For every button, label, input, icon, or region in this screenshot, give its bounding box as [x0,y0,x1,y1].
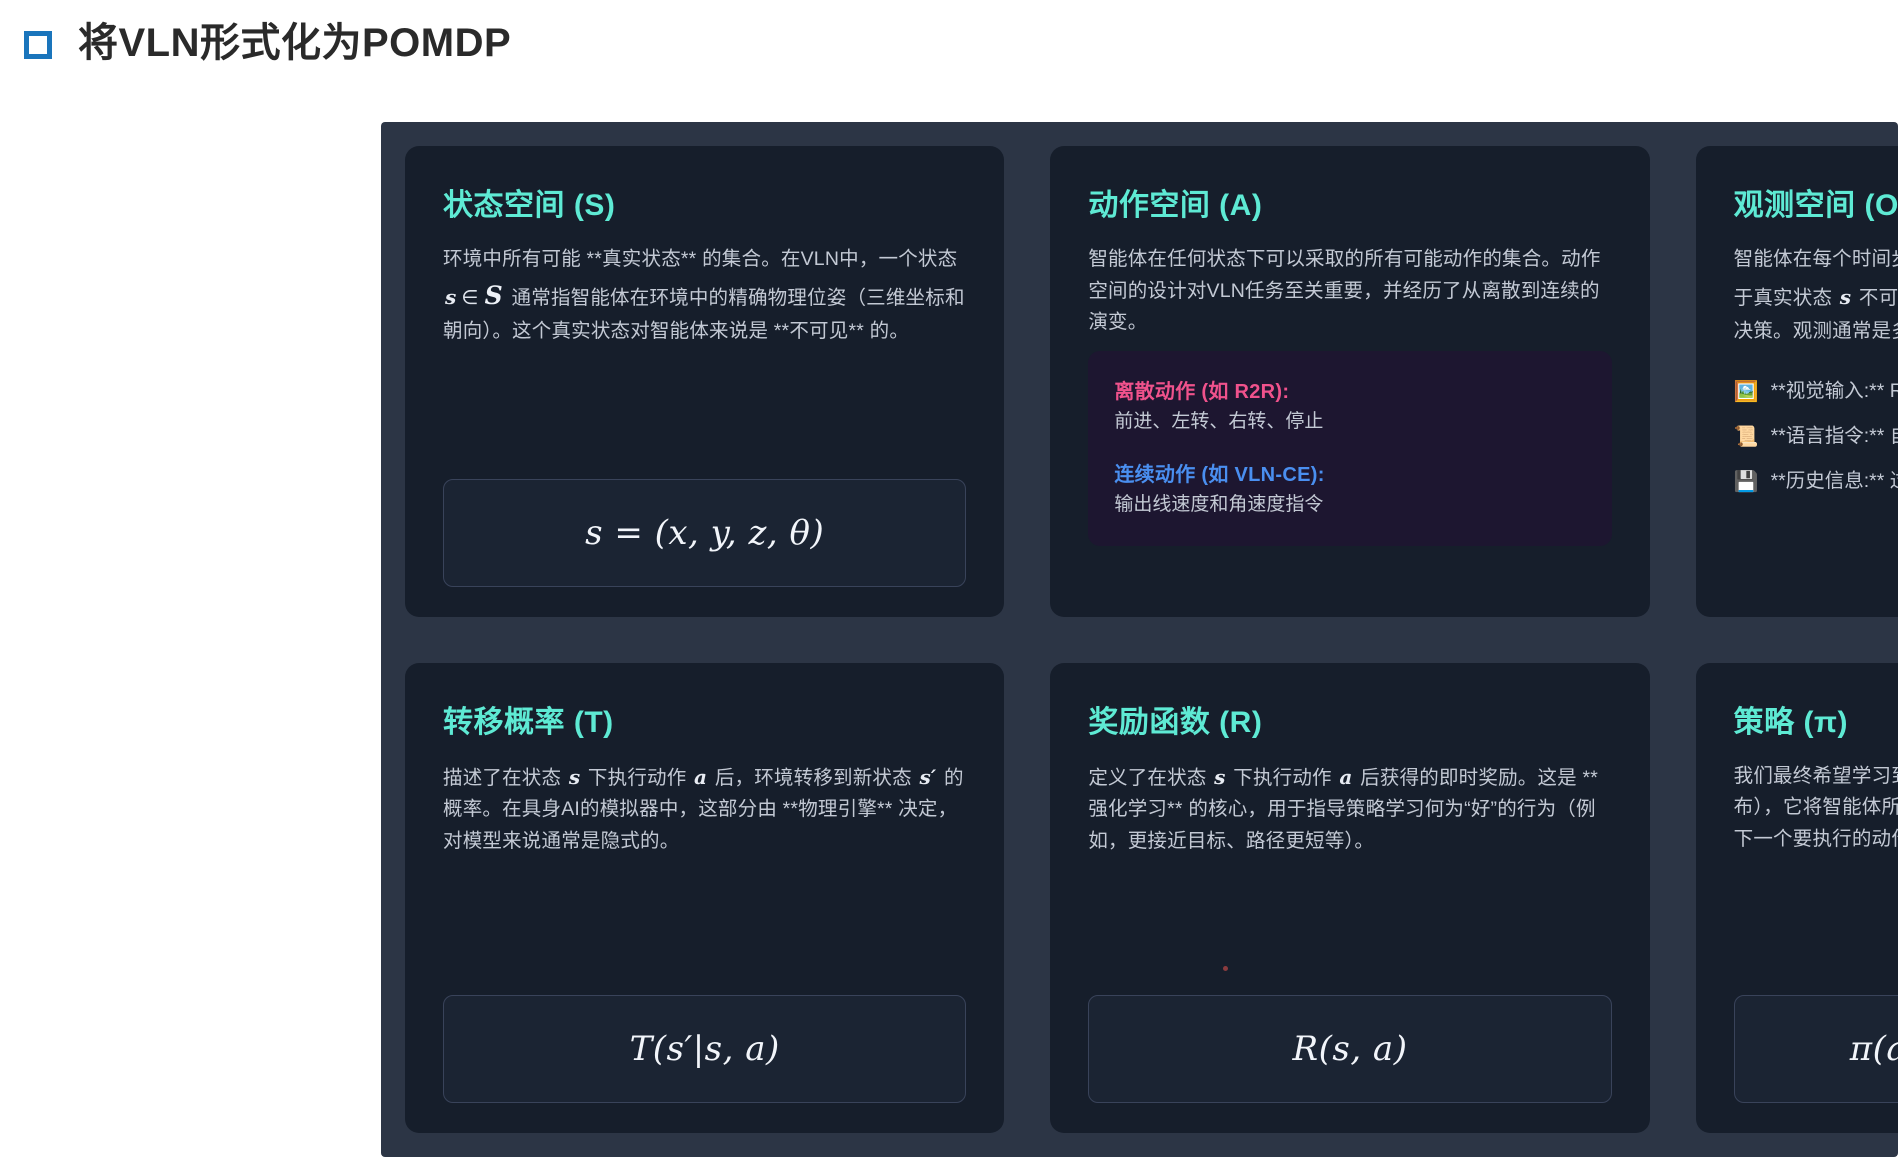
list-item-label: **视觉输入:** RGB图像、深度图 [1771,376,1898,406]
math-var-a: a [1337,765,1354,789]
page-title: 将VLN形式化为POMDP [78,21,511,65]
list-item: 📜 **语言指令:** 自然语言文本 [1734,421,1898,451]
observation-modality-list: 🖼️ **视觉输入:** RGB图像、深度图 📜 **语言指令:** 自然语言文… [1734,376,1898,512]
formula-box: R(s, a) [1088,995,1611,1103]
spacer [443,348,966,471]
discrete-action-text: 前进、左转、右转、停止 [1114,408,1585,437]
formula-transition: T(s′|s, a) [630,1029,780,1069]
pomdp-panel: 状态空间 (S) 环境中所有可能 **真实状态** 的集合。在VLN中，一个状态… [381,122,1898,1157]
card-body: 环境中所有可能 **真实状态** 的集合。在VLN中，一个状态 s∈S 通常指智… [443,244,966,348]
action-types-box: 离散动作 (如 R2R): 前进、左转、右转、停止 连续动作 (如 VLN-CE… [1088,351,1611,546]
formula-box: s = (x, y, z, θ) [443,479,966,587]
card-title: 奖励函数 (R) [1088,697,1611,741]
math-var-s: s [567,765,582,789]
body-text-2: 不可知，智能体只能依赖观测 [1853,287,1898,309]
card-body: 我们最终希望学习到的目标。策略是一个函数（或概率分布），它将智能体所能获取的所有… [1734,761,1898,856]
card-title: 转移概率 (T) [443,697,966,741]
scroll-emoji-icon: 📜 [1734,421,1759,451]
spacer [1734,511,1898,586]
framed-picture-emoji-icon: 🖼️ [1734,376,1759,406]
page-header: 将VLN形式化为POMDP [0,0,1898,78]
math-var-s: s [1212,765,1227,789]
math-var-s: s [443,285,458,309]
list-item-label: **历史信息:** 过去的动作和观测序列 [1771,466,1898,496]
body-text: 环境中所有可能 **真实状态** 的集合。在VLN中，一个状态 [443,248,957,270]
math-var-s-prime: s′ [917,765,938,789]
card-body: 定义了在状态 s 下执行动作 a 后获得的即时奖励。这是 **强化学习** 的核… [1088,761,1611,858]
math-op-in: ∈ [458,286,481,309]
list-item: 💾 **历史信息:** 过去的动作和观测序列 [1734,466,1898,496]
card-body: 智能体在任何状态下可以采取的所有可能动作的集合。动作空间的设计对VLN任务至关重… [1088,244,1611,339]
formula-reward: R(s, a) [1293,1029,1408,1069]
body-text-2: 下执行动作 [582,767,692,789]
floppy-disk-emoji-icon: 💾 [1734,466,1759,496]
continuous-action-label: 连续动作 (如 VLN-CE): [1114,458,1585,487]
card-title: 策略 (π) [1734,697,1898,741]
formula-policy: π(at|o1, a1, …, ot) [1850,1029,1898,1069]
spacer [443,857,966,987]
body-text-2: 下执行动作 [1228,767,1338,789]
card-state-space[interactable]: 状态空间 (S) 环境中所有可能 **真实状态** 的集合。在VLN中，一个状态… [405,146,1004,617]
list-item: 🖼️ **视觉输入:** RGB图像、深度图 [1734,376,1898,406]
square-bullet-icon [24,31,52,59]
list-item-label: **语言指令:** 自然语言文本 [1771,421,1898,451]
card-title: 动作空间 (A) [1088,180,1611,224]
formula-box: π(at|o1, a1, …, ot) [1734,995,1898,1103]
discrete-action-label: 离散动作 (如 R2R): [1114,375,1585,404]
body-text-3: 后，环境转移到新状态 [709,767,917,789]
body-text: 描述了在状态 [443,767,567,789]
card-transition-probability[interactable]: 转移概率 (T) 描述了在状态 s 下执行动作 a 后，环境转移到新状态 s′ … [405,663,1004,1134]
card-reward-function[interactable]: 奖励函数 (R) 定义了在状态 s 下执行动作 a 后获得的即时奖励。这是 **… [1050,663,1649,1134]
card-grid: 状态空间 (S) 环境中所有可能 **真实状态** 的集合。在VLN中，一个状态… [405,146,1898,1133]
continuous-action-text: 输出线速度和角速度指令 [1114,491,1585,520]
spacer [1734,855,1898,987]
body-text: 定义了在状态 [1088,767,1212,789]
render-artifact-dot [1223,966,1228,971]
body-text-2: 通常指智能体在环境中的精确物理位姿（三维坐标和朝向）。这个真实状态对智能体来说是… [443,287,965,343]
card-body: 智能体在每个时间步能够 **实际感知** 到的信息的集合。由于真实状态 s 不可… [1734,244,1898,348]
spacer [1088,546,1611,587]
card-policy[interactable]: 策略 (π) 我们最终希望学习到的目标。策略是一个函数（或概率分布），它将智能体… [1696,663,1898,1134]
card-title: 状态空间 (S) [443,180,966,224]
card-observation-space[interactable]: 观测空间 (O) 智能体在每个时间步能够 **实际感知** 到的信息的集合。由于… [1696,146,1898,617]
card-body: 描述了在状态 s 下执行动作 a 后，环境转移到新状态 s′ 的概率。在具身AI… [443,761,966,858]
formula-box: T(s′|s, a) [443,995,966,1103]
card-title: 观测空间 (O) [1734,180,1898,224]
math-var-a: a [692,765,709,789]
math-set-S: S [482,281,506,310]
formula-state: s = (x, y, z, θ) [585,513,824,553]
card-action-space[interactable]: 动作空间 (A) 智能体在任何状态下可以采取的所有可能动作的集合。动作空间的设计… [1050,146,1649,617]
spacer [1088,857,1611,987]
math-var-s: s [1838,285,1853,309]
